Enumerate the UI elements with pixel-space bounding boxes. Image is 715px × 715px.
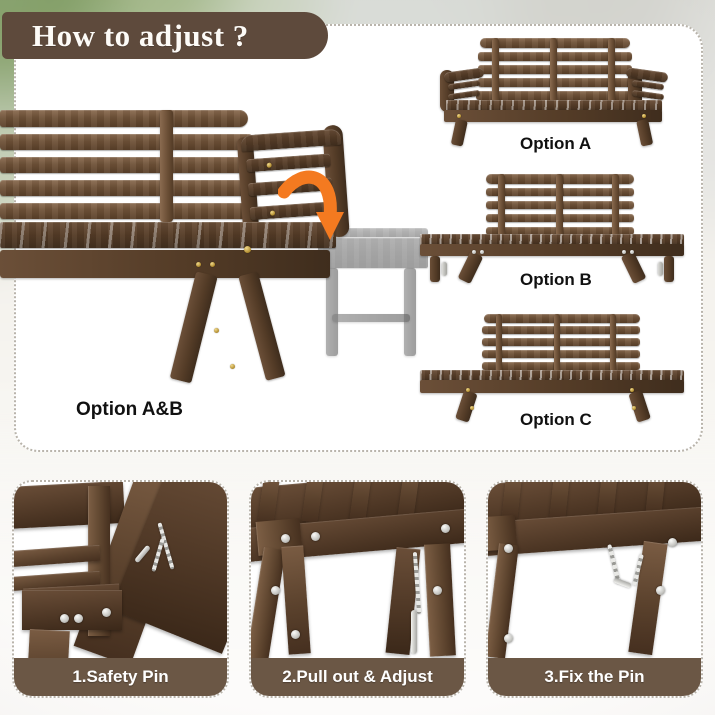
step-photo-3 xyxy=(488,482,701,658)
backrest-slat xyxy=(0,157,250,173)
safety-pin xyxy=(411,610,417,654)
backrest-slat xyxy=(0,203,246,219)
backrest-slat xyxy=(0,110,248,127)
page-title-banner: How to adjust ? xyxy=(2,12,328,59)
bench-illustration-option-c xyxy=(420,308,690,418)
step-caption-3: 3.Fix the Pin xyxy=(544,667,644,687)
step-caption-bar-3: 3.Fix the Pin xyxy=(488,658,701,696)
page-title: How to adjust ? xyxy=(2,18,249,54)
label-option-a: Option A xyxy=(520,134,591,154)
bench-ghost-section xyxy=(318,228,428,398)
step-photo-2 xyxy=(251,482,464,658)
step-panel-pull-out-adjust: 2.Pull out & Adjust xyxy=(249,480,466,698)
bench-illustration-option-b xyxy=(420,172,690,282)
step-panel-safety-pin: 1.Safety Pin xyxy=(12,480,229,698)
label-option-b: Option B xyxy=(520,270,592,290)
bench-leg xyxy=(238,271,285,380)
step-caption-bar-1: 1.Safety Pin xyxy=(14,658,227,696)
backrest-slat xyxy=(0,134,252,150)
step-caption-2: 2.Pull out & Adjust xyxy=(282,667,432,687)
backrest-slat xyxy=(0,180,248,196)
backrest-upright xyxy=(160,110,173,222)
fold-down-arrow xyxy=(278,168,348,248)
step-panel-fix-the-pin: 3.Fix the Pin xyxy=(486,480,703,698)
safety-pin xyxy=(613,578,632,589)
bench-leg xyxy=(170,271,218,383)
bench-illustration-option-ab xyxy=(0,110,420,410)
step-caption-bar-2: 2.Pull out & Adjust xyxy=(251,658,464,696)
step-caption-1: 1.Safety Pin xyxy=(72,667,168,687)
main-card: Option A&B Option A xyxy=(14,24,703,452)
step-photo-1 xyxy=(14,482,227,658)
label-option-c: Option C xyxy=(520,410,592,430)
front-apron-rail xyxy=(0,250,330,278)
label-option-ab: Option A&B xyxy=(76,399,183,421)
bench-illustration-option-a xyxy=(420,34,690,146)
